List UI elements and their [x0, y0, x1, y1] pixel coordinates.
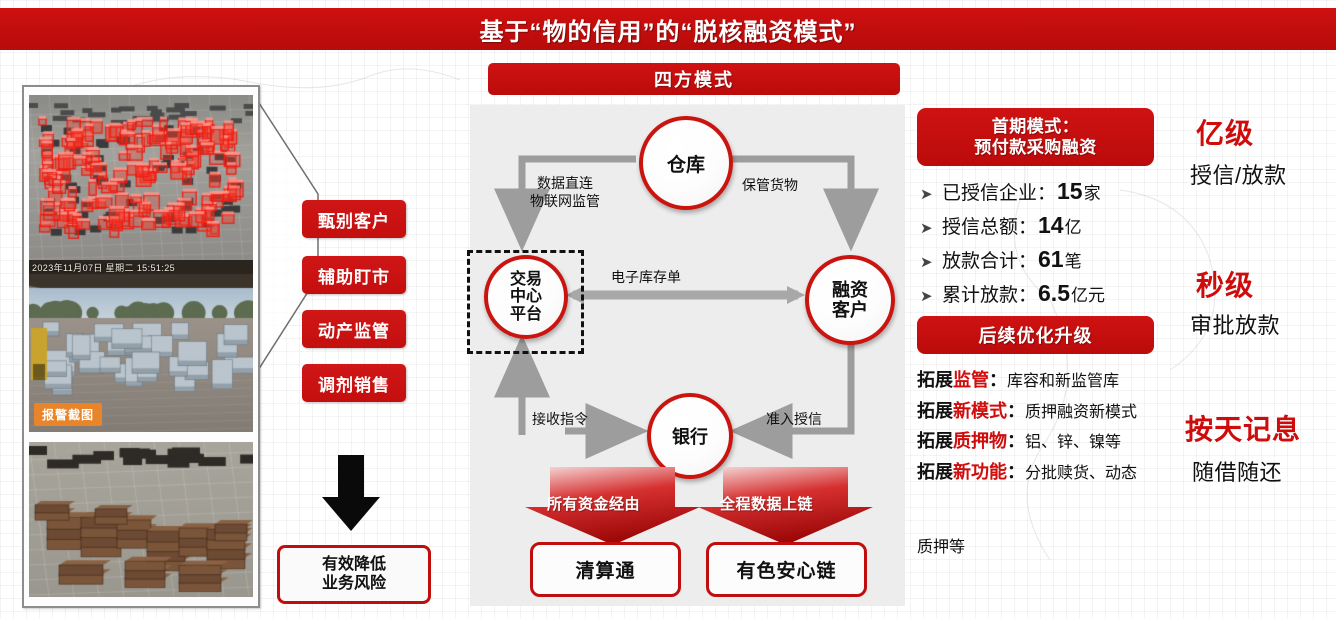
- expansion-value: 质押融资新模式: [1025, 404, 1137, 421]
- capsule-assist-market-watch[interactable]: 辅助盯市: [302, 256, 406, 294]
- diagram-header-label: 四方模式: [654, 66, 734, 92]
- edge-label-keep-goods: 保管货物: [742, 177, 798, 195]
- node-warehouse[interactable]: 仓库: [639, 116, 733, 210]
- upgrade-tag: 后续优化升级: [917, 316, 1154, 354]
- highlight-scale-second: 秒级: [1196, 264, 1254, 304]
- bullet-icon: ➤: [920, 219, 942, 237]
- node-trading-center-platform[interactable]: 交易 中心 平台: [484, 255, 568, 339]
- initial-mode-line-2: 预付款采购融资: [974, 137, 1097, 158]
- expansion-colon: ：: [1007, 462, 1025, 482]
- bullet-icon: ➤: [920, 287, 942, 305]
- expansion-tail-text: 质押等: [917, 533, 965, 557]
- edge-label-data-link: 数据直连 物联网监管: [530, 175, 600, 210]
- evidence-photo-panel: 2023年11月07日 星期二 15:51:25 报警截图: [22, 85, 260, 608]
- node-financing-client[interactable]: 融资 客户: [805, 255, 895, 345]
- stat-row: ➤ 已授信企业： 15 家: [920, 178, 1220, 205]
- statistics-list: ➤ 已授信企业： 15 家 ➤ 授信总额： 14 亿 ➤ 放款合计： 61 笔 …: [920, 178, 1220, 314]
- banner-full-data-on-chain: 全程数据上链: [698, 467, 873, 550]
- expansion-row: 拓展质押物：铝、锌、镍等: [917, 431, 1217, 453]
- stat-unit: 亿元: [1071, 281, 1105, 306]
- expansion-list: 拓展监管：库容和新监管库 拓展新模式：质押融资新模式 拓展质押物：铝、锌、镍等 …: [917, 370, 1217, 492]
- copper-cathode-stacks-photo: [29, 442, 253, 597]
- bullet-icon: ➤: [920, 253, 942, 271]
- node-platform-label: 交易 中心 平台: [510, 271, 542, 324]
- node-client-label: 融资 客户: [832, 280, 868, 320]
- stat-label: 放款合计：: [942, 246, 1037, 273]
- edge-label-electronic-receipt: 电子库存单: [611, 269, 681, 287]
- stat-label: 已授信企业：: [942, 178, 1056, 205]
- stat-label: 授信总额：: [942, 212, 1037, 239]
- stat-number: 61: [1038, 246, 1064, 273]
- expansion-prefix: 拓展: [917, 431, 953, 451]
- expansion-value: 库容和新监管库: [1007, 373, 1119, 390]
- initial-mode-tag: 首期模式： 预付款采购融资: [917, 108, 1154, 166]
- highlight-approval-disbursement: 审批放款: [1190, 308, 1280, 340]
- four-party-model-diagram: 仓库 交易 中心 平台 融资 客户 银行 数据直连 物联网监管 保管货物 电子库…: [470, 105, 905, 606]
- expansion-key: 新功能: [953, 462, 1007, 482]
- expansion-value: 分批赎货、动态: [1025, 465, 1137, 482]
- highlight-daily-interest: 按天记息: [1185, 408, 1301, 448]
- photo-timestamp: 2023年11月07日 星期二 15:51:25: [32, 261, 175, 274]
- expansion-prefix: 拓展: [917, 370, 953, 390]
- stat-row: ➤ 放款合计： 61 笔: [920, 246, 1220, 273]
- highlight-credit-disbursement: 授信/放款: [1190, 158, 1287, 190]
- expansion-colon: ：: [1007, 431, 1025, 451]
- expansion-key: 质押物: [953, 431, 1007, 451]
- expansion-row: 拓展新功能：分批赎货、动态: [917, 462, 1217, 484]
- stat-unit: 亿: [1065, 213, 1082, 238]
- expansion-row: 拓展监管：库容和新监管库: [917, 370, 1217, 392]
- stat-number: 6.5: [1038, 280, 1070, 307]
- initial-mode-line-1: 首期模式：: [992, 116, 1080, 137]
- ai-detection-yard-photo: [29, 95, 253, 260]
- risk-line-2: 业务风险: [322, 575, 386, 593]
- capsule-adjust-sales[interactable]: 调剂销售: [302, 364, 406, 402]
- stat-row: ➤ 授信总额： 14 亿: [920, 212, 1220, 239]
- bullet-icon: ➤: [920, 185, 942, 203]
- expansion-row: 拓展新模式：质押融资新模式: [917, 401, 1217, 423]
- stat-label: 累计放款：: [942, 280, 1037, 307]
- down-arrow-icon: [320, 455, 382, 533]
- expansion-key: 新模式: [953, 401, 1007, 421]
- risk-line-1: 有效降低: [322, 556, 386, 574]
- banner-1-label: 所有资金经由: [547, 493, 640, 514]
- capsule-screen-customers[interactable]: 甄别客户: [302, 200, 406, 238]
- highlight-scale-billion: 亿级: [1196, 112, 1254, 152]
- edge-label-access-credit: 准入授信: [766, 411, 822, 429]
- node-bank-label: 银行: [672, 423, 708, 449]
- expansion-colon: ：: [1007, 401, 1025, 421]
- page-title: 基于“物的信用”的“脱核融资模式”: [480, 12, 857, 47]
- upgrade-tag-label: 后续优化升级: [979, 322, 1093, 348]
- pill-nonferrous-safe-chain[interactable]: 有色安心链: [706, 542, 867, 597]
- expansion-key: 监管: [953, 370, 989, 390]
- edge-label-receive-order: 接收指令: [532, 411, 588, 429]
- expansion-prefix: 拓展: [917, 462, 953, 482]
- risk-reduction-box: 有效降低 业务风险: [277, 545, 431, 604]
- banner-2-label: 全程数据上链: [720, 493, 813, 514]
- banner-all-funds-via: 所有资金经由: [525, 467, 700, 550]
- stat-unit: 笔: [1065, 247, 1082, 272]
- stat-row: ➤ 累计放款： 6.5 亿元: [920, 280, 1220, 307]
- alarm-screenshot-badge: 报警截图: [34, 403, 102, 426]
- expansion-value: 铝、锌、镍等: [1025, 434, 1121, 451]
- pill-clearing-pass[interactable]: 清算通: [530, 542, 681, 597]
- expansion-colon: ：: [989, 370, 1007, 390]
- capsule-chattel-supervision[interactable]: 动产监管: [302, 310, 406, 348]
- highlight-borrow-repay-anytime: 随借随还: [1192, 455, 1282, 487]
- expansion-prefix: 拓展: [917, 401, 953, 421]
- stat-number: 14: [1038, 212, 1064, 239]
- warehouse-yard-photo: 2023年11月07日 星期二 15:51:25 报警截图: [29, 260, 253, 432]
- node-warehouse-label: 仓库: [667, 150, 705, 177]
- stat-number: 15: [1057, 178, 1083, 205]
- stat-unit: 家: [1084, 179, 1101, 204]
- page-title-bar: 基于“物的信用”的“脱核融资模式”: [0, 8, 1336, 50]
- diagram-header-banner: 四方模式: [488, 63, 900, 95]
